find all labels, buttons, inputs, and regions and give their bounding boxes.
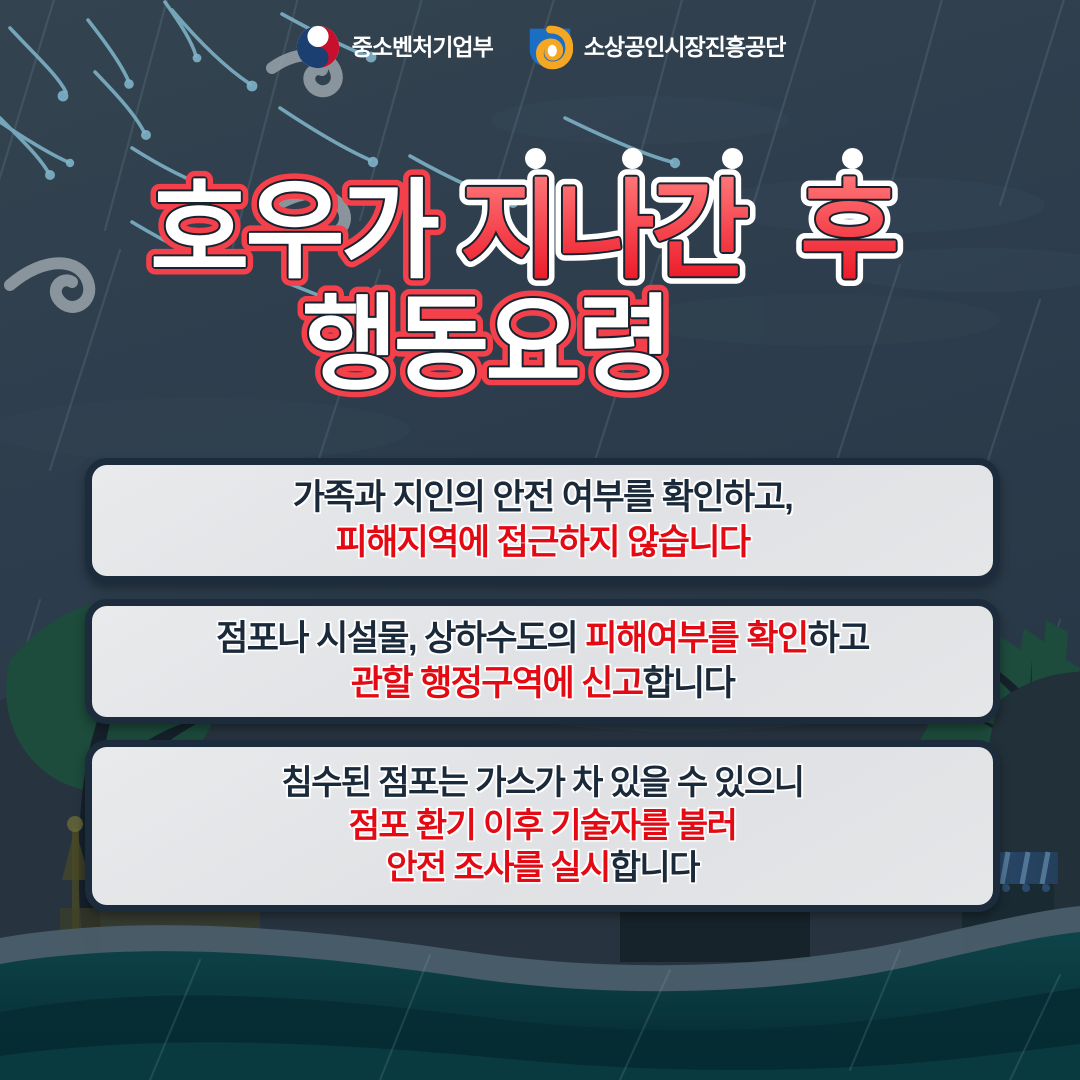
title-word-red-2-inner: 후 — [800, 170, 899, 291]
logo-group-semas: 소상공인시장진흥공단 — [527, 24, 786, 70]
poster-canvas: 중소벤처기업부 소상공인시장진흥공단 — [0, 0, 1080, 1080]
card-line: 점포 환기 이후 기술자를 불러 — [349, 805, 737, 848]
logo-label-ministry: 중소벤처기업부 — [352, 36, 493, 59]
card-text-segment-highlight: 안전 조사를 실시 — [386, 849, 609, 887]
card-text-segment-highlight: 관할 행정구역에 신고 — [351, 664, 643, 703]
title-dots — [0, 148, 1080, 170]
card-text-segment: 점포나 시설물, 상하수도의 — [216, 619, 585, 658]
guidance-card-gas-inspection[interactable]: 침수된 점포는 가스가 차 있을 수 있으니 점포 환기 이후 기술자를 불러 … — [85, 740, 1000, 912]
korea-government-taeguk-icon — [295, 24, 341, 70]
title-dot — [622, 148, 643, 169]
card-line: 안전 조사를 실시합니다 — [386, 847, 699, 890]
card-text-segment-highlight: 피해여부를 확인 — [585, 619, 807, 658]
card-line: 피해지역에 접근하지 않습니다 — [335, 521, 749, 565]
title-dot — [525, 148, 546, 169]
guidance-card-family-safety[interactable]: 가족과 지인의 안전 여부를 확인하고, 피해지역에 접근하지 않습니다 — [85, 458, 1000, 583]
card-line: 침수된 점포는 가스가 차 있을 수 있으니 — [282, 762, 804, 805]
card-text-segment: 피해지역에 접근하지 않습니다 — [335, 523, 749, 562]
guidance-card-facility-report[interactable]: 점포나 시설물, 상하수도의 피해여부를 확인하고 관할 행정구역에 신고합니다 — [85, 599, 1000, 724]
logo-group-ministry: 중소벤처기업부 — [295, 24, 493, 70]
title-word-white-2-inner: 행동요령 — [302, 287, 669, 403]
title-word-red-inner: 지나간 — [460, 170, 749, 291]
card-text-segment: 하고 — [808, 619, 869, 658]
title-word-white-inner: 호우가 — [150, 170, 439, 291]
poster-title: 호우가 호우가 지나간 지나간 후 후 행동요령 행동요령 — [0, 148, 1080, 412]
card-text-segment: 침수된 점포는 가스가 차 있을 수 있으니 — [282, 764, 804, 802]
title-dot — [722, 148, 743, 169]
header-logos: 중소벤처기업부 소상공인시장진흥공단 — [0, 14, 1080, 80]
card-text-segment: 합니다 — [610, 849, 699, 887]
title-line-2: 행동요령 행동요령 — [0, 282, 1080, 412]
card-line: 관할 행정구역에 신고합니다 — [351, 662, 734, 706]
card-text-segment-highlight: 점포 환기 이후 기술자를 불러 — [349, 807, 737, 845]
semas-swirl-icon — [527, 24, 573, 70]
title-dot — [842, 148, 863, 169]
title-line-1: 호우가 호우가 지나간 지나간 후 후 — [0, 170, 1080, 300]
card-text-segment: 가족과 지인의 안전 여부를 확인하고, — [293, 478, 793, 517]
card-line: 가족과 지인의 안전 여부를 확인하고, — [293, 476, 793, 520]
logo-label-semas: 소상공인시장진흥공단 — [584, 36, 786, 59]
guidance-card-list: 가족과 지인의 안전 여부를 확인하고, 피해지역에 접근하지 않습니다 점포나… — [85, 458, 1000, 912]
card-line: 점포나 시설물, 상하수도의 피해여부를 확인하고 — [216, 617, 869, 661]
card-text-segment: 합니다 — [642, 664, 734, 703]
